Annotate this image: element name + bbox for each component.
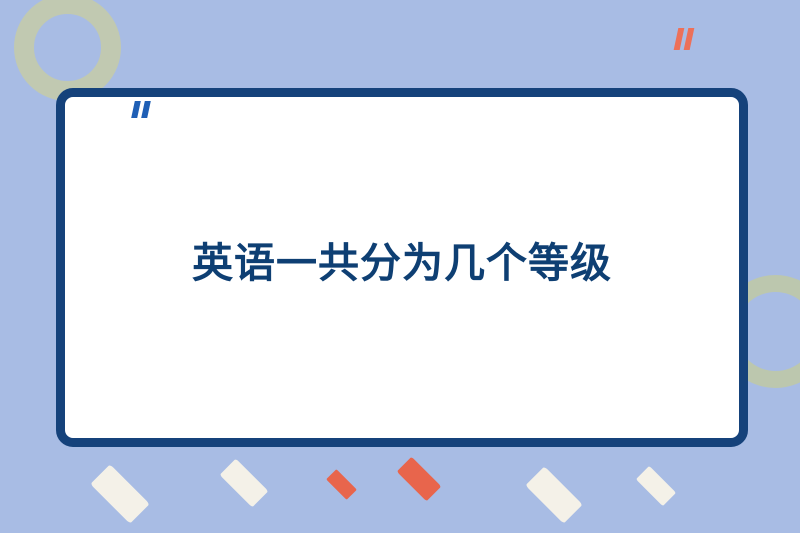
block-top (397, 457, 442, 502)
block-top (326, 469, 357, 500)
block-top (525, 466, 582, 523)
block-top (220, 459, 269, 508)
decorative-block-5 (527, 468, 581, 522)
slide-canvas: 英语一共分为几个等级 (0, 0, 800, 533)
block-top (90, 464, 149, 523)
quotation-mark-icon-red (676, 28, 694, 50)
decorative-block-3 (327, 470, 356, 499)
page-title: 英语一共分为几个等级 (65, 239, 739, 288)
decorative-ring-top-left (14, 0, 121, 101)
content-card: 英语一共分为几个等级 (56, 88, 748, 447)
quotation-mark-icon-blue (133, 101, 150, 118)
block-top (636, 466, 676, 506)
decorative-block-4 (398, 458, 440, 500)
decorative-block-6 (637, 467, 675, 505)
decorative-block-2 (221, 460, 267, 506)
decorative-block-1 (92, 466, 148, 522)
